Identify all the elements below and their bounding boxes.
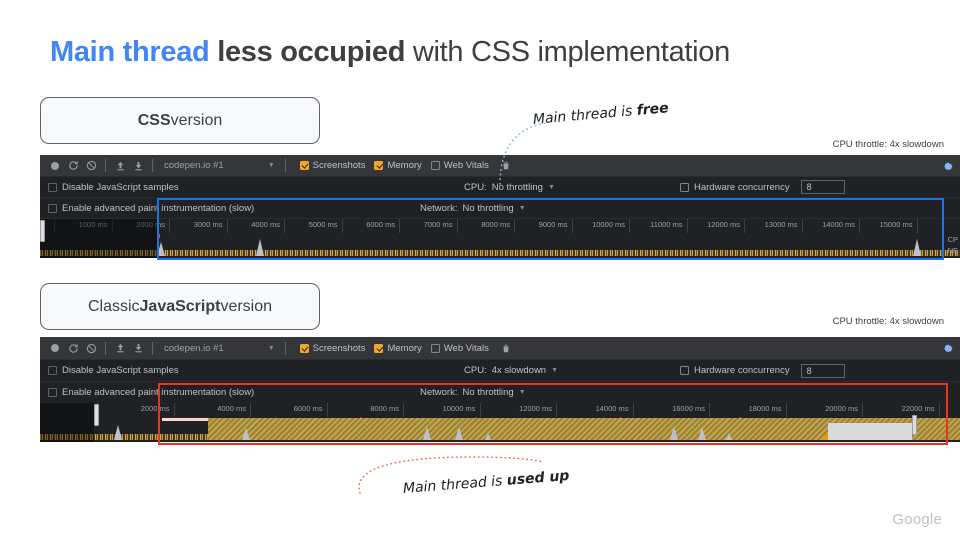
upload-arrow-icon[interactable] [111,158,129,174]
checkbox-box [431,161,440,170]
checkbox-web-vitals-css[interactable]: Web Vitals [431,160,489,171]
checkbox-memory-js[interactable]: Memory [374,343,421,354]
cpu-spike [242,428,250,440]
devtools-toolbar-js: codepen.io #1 ▼ Screenshots Memory Web V… [40,337,960,360]
title-accent: Main thread [50,36,209,68]
gear-icon[interactable] [943,341,954,359]
timeline-tick-label: 12000 ms [707,219,740,231]
timeline-tick-label: 8000 ms [370,403,399,415]
cpu-label: CPU: [464,182,487,193]
timeline-tick: 12000 ms [687,219,745,233]
reload-icon[interactable] [64,158,82,174]
profile-select-value: codepen.io #1 [164,160,224,171]
checkbox-screenshots-js[interactable]: Screenshots [300,343,366,354]
hardware-value-field[interactable]: 8 [801,364,845,378]
chip-css-bold: CSS [138,112,171,130]
cpu-spike [670,426,678,440]
timeline-tick: 13000 ms [744,219,802,233]
network-value: No throttling [462,203,513,214]
toolbar-divider-2 [152,159,153,172]
checkbox-label: Web Vitals [444,343,489,354]
timeline-tick: 16 [917,219,960,233]
cpu-throttle-control-js[interactable]: CPU: 4x slowdown ▼ [464,365,558,376]
cpu-idle-block [828,423,912,440]
timeline-tick-label: 6000 ms [294,403,323,415]
timeline-tick: 16000 ms [633,403,710,417]
timeline-tick-label: 8000 ms [481,219,510,231]
network-throttle-control-css[interactable]: Network: No throttling ▼ [420,203,526,214]
timeline-tick-label: 11000 ms [650,219,682,231]
timeline-tick-label: 12000 ms [519,403,552,415]
timeline-tick-label: 2000 ms [141,403,170,415]
chevron-down-icon: ▼ [268,162,275,169]
hardware-concurrency-control-js[interactable]: Hardware concurrency 8 [680,364,845,378]
timeline-tick: 11000 ms [629,219,687,233]
page-title: Main thread less occupied with CSS imple… [50,36,730,69]
download-arrow-icon[interactable] [129,340,147,356]
timeline-tick-label: 15000 ms [880,219,913,231]
hardware-label: Hardware concurrency [694,182,790,193]
chevron-down-icon: ▼ [519,205,526,212]
annotation-top-plain: Main thread is [532,103,637,128]
checkbox-box [300,161,309,170]
checkbox-box [48,204,57,213]
checkbox-label: Disable JavaScript samples [62,365,179,376]
timeline-tick: 12000 ms [480,403,557,417]
cpu-low-trace [40,250,960,256]
profile-select-js[interactable]: codepen.io #1 ▼ [164,343,275,354]
network-throttle-control-js[interactable]: Network: No throttling ▼ [420,387,526,398]
timeline-tick: 15000 ms [859,219,917,233]
annotation-text-top: Main thread is free [532,100,669,128]
devtools-panel-js: codepen.io #1 ▼ Screenshots Memory Web V… [40,337,960,442]
checkbox-label: Web Vitals [444,160,489,171]
checkbox-box [680,183,689,192]
chip-css-rest: version [171,112,223,130]
hardware-concurrency-control-css[interactable]: Hardware concurrency 8 [680,180,845,194]
reload-icon[interactable] [64,340,82,356]
timeline-tick: 20000 ms [786,403,863,417]
chip-js-pre: Classic [88,298,140,316]
devtools-row-paint-js: Enable advanced paint instrumentation (s… [40,382,960,404]
timeline-tick-label: 6000 ms [366,219,395,231]
edge-label-network: NE [948,246,958,255]
checkbox-advanced-paint-css[interactable]: Enable advanced paint instrumentation (s… [48,203,254,214]
checkbox-box [680,366,689,375]
toolbar-divider-3 [285,342,286,355]
hardware-value-field[interactable]: 8 [801,180,845,194]
timeline-tick-label: 4000 ms [251,219,280,231]
edge-label-cpu: CP [948,235,958,244]
timeline-ruler-js: 2000 ms4000 ms6000 ms8000 ms10000 ms1200… [40,403,960,417]
toolbar-divider-1 [105,159,106,172]
clear-prohibited-icon[interactable] [82,158,100,174]
cpu-value: 4x slowdown [492,365,546,376]
checkbox-box [48,366,57,375]
checkbox-label: Screenshots [313,160,366,171]
checkbox-box [374,344,383,353]
title-bold: less occupied [209,36,405,68]
checkbox-disable-js-samples-js[interactable]: Disable JavaScript samples [48,365,179,376]
timeline-tick: 18000 ms [709,403,786,417]
timeline-tick-label: 4000 ms [217,403,246,415]
google-logo: Google [892,511,942,528]
timeline-tick-label: 7000 ms [424,219,453,231]
timeline-tick-label: 3000 ms [194,219,223,231]
cpu-spike [913,239,921,256]
network-label: Network: [420,203,457,214]
record-circle-icon[interactable] [46,158,64,174]
checkbox-advanced-paint-js[interactable]: Enable advanced paint instrumentation (s… [48,387,254,398]
profile-select-css[interactable]: codepen.io #1 ▼ [164,160,275,171]
timeline-tick-label: 13000 ms [765,219,798,231]
checkbox-memory-css[interactable]: Memory [374,160,421,171]
timeline-tick: 14000 ms [556,403,633,417]
chevron-down-icon: ▼ [551,367,558,374]
timeline-tick-label: 10000 ms [592,219,625,231]
checkbox-label: Enable advanced paint instrumentation (s… [62,203,254,214]
annotation-top-bold: free [636,100,669,119]
checkbox-label: Screenshots [313,343,366,354]
checkbox-label: Disable JavaScript samples [62,182,179,193]
timeline-tick-label: 20000 ms [825,403,858,415]
timeline-tick: 3000 ms [169,219,227,233]
chip-css-version[interactable]: CSS version [40,97,320,144]
timeline-tick-label: 18000 ms [749,403,782,415]
chevron-down-icon: ▼ [519,389,526,396]
timeline-tick: 14000 ms [802,219,860,233]
checkbox-label: Memory [387,160,421,171]
cpu-activity-track-css [40,233,960,256]
cpu-spike [485,433,491,440]
record-circle-icon[interactable] [46,340,64,356]
timeline-tick: 6000 ms [250,403,327,417]
cpu-spike [698,427,706,440]
timeline-tick: 9000 ms [514,219,572,233]
annotation-bottom-bold: used up [506,468,570,489]
gear-icon[interactable] [943,159,954,177]
timeline-dimmed-region [40,219,157,258]
cpu-label: CPU: [464,365,487,376]
checkbox-screenshots-css[interactable]: Screenshots [300,160,366,171]
cpu-activity-track-js [40,417,960,440]
checkbox-label: Enable advanced paint instrumentation (s… [62,387,254,398]
chip-js-rest: version [220,298,272,316]
chip-js-version[interactable]: Classic JavaScript version [40,283,320,330]
cpu-spike [157,242,165,256]
timeline-tick-label: 14000 ms [822,219,855,231]
checkbox-box [300,344,309,353]
devtools-row-paint-css: Enable advanced paint instrumentation (s… [40,198,960,219]
timeline-tick-label: 14000 ms [596,403,629,415]
timeline-dimmed-region [40,403,94,442]
network-marker [157,234,160,238]
devtools-row-js-samples-js: Disable JavaScript samples CPU: 4x slowd… [40,360,960,382]
cpu-spike [726,433,732,440]
timeline-tick: 8000 ms [327,403,404,417]
timeline-tick-label: 10000 ms [443,403,476,415]
timeline-tick: 6000 ms [342,219,400,233]
checkbox-web-vitals-js[interactable]: Web Vitals [431,343,489,354]
network-value: No throttling [462,387,513,398]
timeline-tick-label: 5000 ms [309,219,338,231]
cpu-spike [256,239,264,256]
annotation-arrow-top [498,118,558,188]
upload-arrow-icon[interactable] [111,340,129,356]
chevron-down-icon: ▼ [268,345,275,352]
toolbar-divider-3 [285,159,286,172]
throttle-note-top: CPU throttle: 4x slowdown [833,139,944,150]
throttle-note-bottom: CPU throttle: 4x slowdown [833,316,944,327]
chip-js-bold: JavaScript [140,298,221,316]
timeline-scrubber-left[interactable] [40,220,45,242]
timeline-tick: 22000 ms [862,403,939,417]
timeline-tick: 4000 ms [174,403,251,417]
toolbar-divider-1 [105,342,106,355]
download-arrow-icon[interactable] [129,158,147,174]
cpu-spike [423,427,431,440]
cpu-spike [114,425,122,440]
checkbox-box [431,344,440,353]
profile-select-value: codepen.io #1 [164,343,224,354]
timeline-tick: 8000 ms [457,219,515,233]
toolbar-divider-2 [152,342,153,355]
timeline-tick: 10000 ms [572,219,630,233]
timeline-tick: 2000 ms [97,403,174,417]
checkbox-box [48,183,57,192]
timeline-overview-css[interactable]: 1000 ms2000 ms3000 ms4000 ms5000 ms6000 … [40,219,960,258]
timeline-tick: 7000 ms [399,219,457,233]
slide-root: Main thread less occupied with CSS imple… [0,0,960,540]
timeline-tick-label: 22000 ms [902,403,935,415]
timeline-tick-label: 9000 ms [539,219,568,231]
cpu-spike [455,427,463,440]
network-label: Network: [420,387,457,398]
timeline-tick: 10000 ms [403,403,480,417]
timeline-tick: 5000 ms [284,219,342,233]
checkbox-box [48,388,57,397]
timeline-ruler-css: 1000 ms2000 ms3000 ms4000 ms5000 ms6000 … [40,219,960,233]
clear-prohibited-icon[interactable] [82,340,100,356]
trash-icon[interactable] [497,340,515,356]
checkbox-label: Memory [387,343,421,354]
checkbox-box [374,161,383,170]
timeline-scrubber-right[interactable] [912,415,917,435]
title-light: with CSS implementation [405,36,730,68]
timeline-overview-js[interactable]: 2000 ms4000 ms6000 ms8000 ms10000 ms1200… [40,403,960,442]
timeline-scrubber-left[interactable] [94,404,99,426]
timeline-tick: 4000 ms [227,219,285,233]
timeline-tick: 2 [939,403,960,417]
checkbox-disable-js-samples-css[interactable]: Disable JavaScript samples [48,182,179,193]
timeline-tick-label: 16000 ms [672,403,705,415]
hardware-label: Hardware concurrency [694,365,790,376]
